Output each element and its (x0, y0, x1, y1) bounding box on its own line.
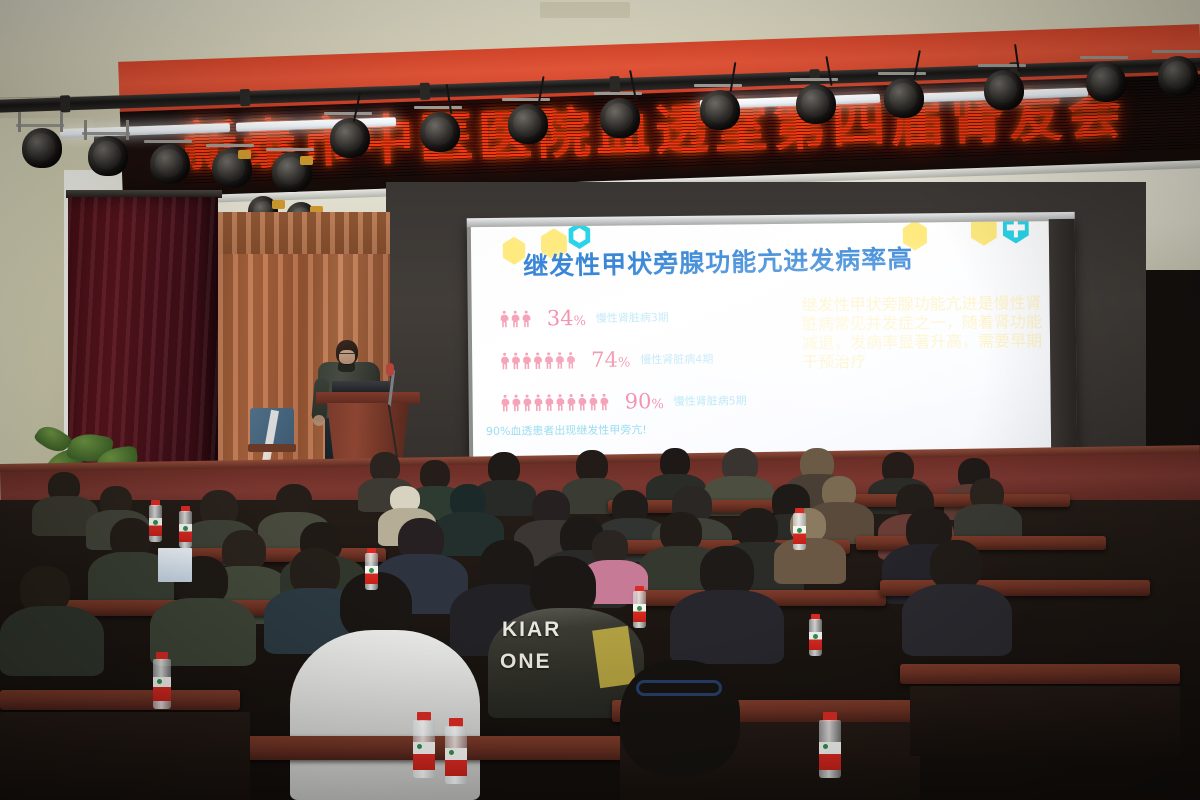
par-can-lens (1163, 61, 1191, 89)
par-can-yoke-bar (16, 124, 64, 127)
person-pictogram-icon (545, 394, 554, 411)
truss-clamp (60, 95, 71, 112)
par-can-yoke-bar (694, 84, 742, 87)
presentation-slide: 继发性甲状旁腺功能亢进发病率高 34% 慢性肾脏病3期 (471, 221, 1051, 459)
microphone-head-icon (386, 363, 394, 376)
par-can-lens (705, 95, 733, 123)
par-can-lens (93, 141, 121, 169)
person-pictogram-icon (600, 393, 609, 410)
water-bottle (818, 712, 842, 778)
par-can-lens (801, 89, 829, 117)
person-pictogram-icon (522, 352, 531, 369)
person-pictogram-icon (533, 352, 542, 369)
par-can-lens (605, 103, 633, 131)
bottle-label (809, 632, 822, 650)
person-pictogram-icon (589, 393, 598, 410)
person-pictogram-icon (567, 394, 576, 411)
person-pictogram-icon (511, 352, 520, 369)
stat-label: 慢性肾脏病4期 (640, 351, 713, 368)
stat-percent: 90% (625, 389, 664, 413)
par-can-yoke-bar (1152, 50, 1200, 53)
truss-clamp (240, 89, 251, 106)
par-can-gel-frame (272, 200, 285, 209)
par-can-light (1086, 62, 1126, 102)
jacket-print-line2: ONE (500, 650, 552, 674)
water-bottle (364, 548, 379, 590)
person-pictogram-icon (534, 394, 543, 411)
par-can-gel-frame (300, 156, 313, 165)
par-can-lens (513, 109, 541, 137)
par-can-lens (425, 117, 453, 145)
chair-arm (248, 444, 296, 452)
jacket-print-line1: KIAR (502, 618, 561, 642)
conference-hall-photo: 新泰市中医医院血透室第四届肾友会 (0, 0, 1200, 800)
par-can-yoke-bar (1080, 56, 1128, 59)
par-can-light (22, 128, 62, 168)
bench-seat (0, 712, 250, 800)
water-bottle (808, 614, 823, 656)
par-can-yoke-bar (324, 112, 372, 115)
ceiling-vent (540, 2, 630, 18)
bench-seat-back (0, 690, 240, 710)
pictogram-group (501, 393, 609, 411)
par-can-light (600, 98, 640, 138)
bench-seat (910, 686, 1180, 756)
truss-clamp (420, 83, 431, 100)
bench-seat-back (856, 536, 1106, 550)
bottle-label (633, 604, 646, 622)
par-can-light (150, 144, 190, 184)
projection-screen: 继发性甲状旁腺功能亢进发病率高 34% 慢性肾脏病3期 (467, 219, 1077, 461)
par-can-lens (1091, 67, 1119, 95)
par-can-yoke (60, 112, 63, 132)
podium-top (316, 392, 420, 404)
slide-side-text: 继发性甲状旁腺功能亢进是慢性肾脏病常见并发症之一，随着肾功能减退，发病率显著升高… (802, 293, 1043, 372)
par-can-lens (155, 149, 183, 177)
water-bottle (178, 506, 193, 548)
bottle-label (153, 677, 171, 701)
par-can-yoke (84, 120, 87, 140)
water-bottle (148, 500, 163, 542)
par-can-light (984, 70, 1024, 110)
par-can-yoke (18, 112, 21, 132)
bench-seat-back (840, 494, 1070, 507)
bench-seat-back (900, 664, 1180, 684)
person-pictogram-icon (556, 394, 565, 411)
par-can-light (884, 78, 924, 118)
water-bottle (792, 508, 807, 550)
stat-percent: 74% (591, 347, 630, 371)
bottle-label (179, 524, 192, 542)
par-can-light (508, 104, 548, 144)
par-can-yoke-bar (414, 106, 462, 109)
person-pictogram-icon (501, 394, 510, 411)
person-pictogram-icon (578, 393, 587, 410)
person-pictogram-icon (511, 310, 520, 327)
par-can-gel-frame (238, 150, 251, 159)
par-can-lens (989, 75, 1017, 103)
par-can-yoke-bar (144, 140, 192, 143)
person-pictogram-icon (500, 310, 509, 327)
par-can-yoke (126, 120, 129, 140)
bottle-label (819, 742, 841, 770)
par-can-light (700, 90, 740, 130)
screen-right-shadow (1049, 219, 1077, 455)
par-can-light (1158, 56, 1198, 96)
bottle-label (149, 518, 162, 536)
person-pictogram-icon (512, 394, 521, 411)
par-can-light (88, 136, 128, 176)
person-pictogram-icon (566, 352, 575, 369)
bottle-label (413, 742, 435, 770)
water-bottle (412, 712, 436, 778)
bottle-label (793, 526, 806, 544)
person-pictogram-icon (500, 352, 509, 369)
water-bottle (632, 586, 647, 628)
par-can-yoke-bar (82, 132, 130, 135)
eyeglasses-on-head-icon (636, 680, 722, 696)
par-can-light (420, 112, 460, 152)
bottle-label (445, 748, 467, 776)
par-can-yoke-bar (502, 98, 550, 101)
par-can-yoke-bar (878, 72, 926, 75)
stat-row: 90% 慢性肾脏病5期 (501, 388, 747, 415)
stat-label: 慢性肾脏病3期 (596, 309, 669, 326)
slide-title: 继发性甲状旁腺功能亢进发病率高 (523, 237, 1044, 283)
par-can-yoke-bar (266, 148, 314, 151)
person-pictogram-icon (523, 394, 532, 411)
par-can-lens (889, 83, 917, 111)
stat-row: 34% 慢性肾脏病3期 (500, 305, 669, 331)
bottle-label (365, 566, 378, 584)
curtain-valance (218, 212, 390, 254)
par-can-light (330, 118, 370, 158)
par-can-light (796, 84, 836, 124)
truss-clamp (610, 76, 621, 93)
par-can-lens (27, 133, 55, 161)
speaker-glasses-icon (338, 353, 356, 357)
slide-note: 90%血透患者出现继发性甲旁亢! (486, 421, 647, 439)
pictogram-group (500, 310, 531, 327)
stat-row: 74% 慢性肾脏病4期 (500, 347, 713, 373)
par-can-lens (335, 123, 363, 151)
stat-percent: 34% (547, 306, 586, 330)
stat-label: 慢性肾脏病5期 (674, 392, 747, 409)
table-name-card (158, 548, 192, 582)
person-pictogram-icon (555, 352, 564, 369)
water-bottle (444, 718, 468, 784)
pictogram-group (500, 352, 575, 370)
water-bottle (152, 652, 172, 708)
person-pictogram-icon (544, 352, 553, 369)
person-pictogram-icon (522, 310, 531, 327)
par-can-yoke-bar (206, 144, 254, 147)
